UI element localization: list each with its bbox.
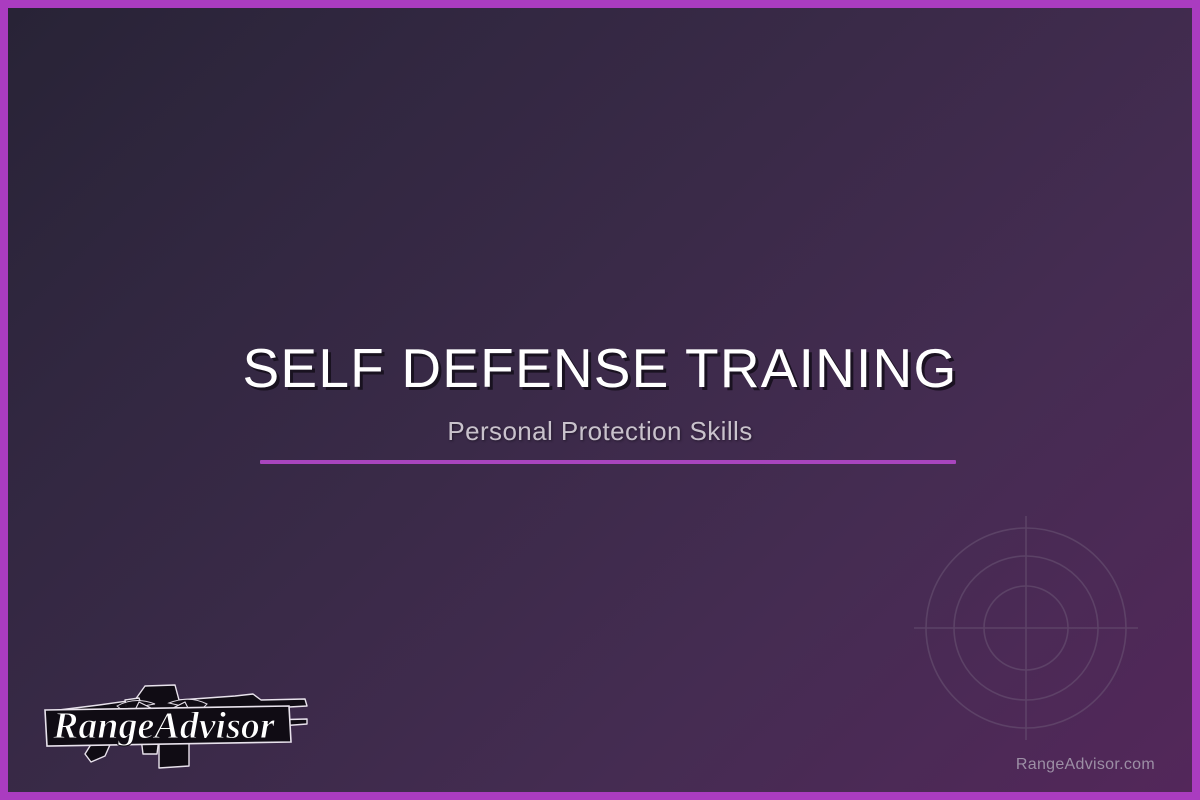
presentation-slide: SELF DEFENSE TRAINING Personal Protectio… [0, 0, 1200, 800]
title-block: SELF DEFENSE TRAINING Personal Protectio… [8, 340, 1192, 447]
page-title: SELF DEFENSE TRAINING [8, 340, 1192, 398]
brand-logo-text: RangeAdvisor [52, 705, 276, 747]
brand-logo: RangeAdvisor [39, 680, 311, 772]
page-subtitle: Personal Protection Skills [8, 416, 1192, 447]
title-divider [260, 460, 956, 464]
crosshair-target-icon [911, 513, 1141, 743]
footer-website: RangeAdvisor.com [1016, 756, 1155, 774]
